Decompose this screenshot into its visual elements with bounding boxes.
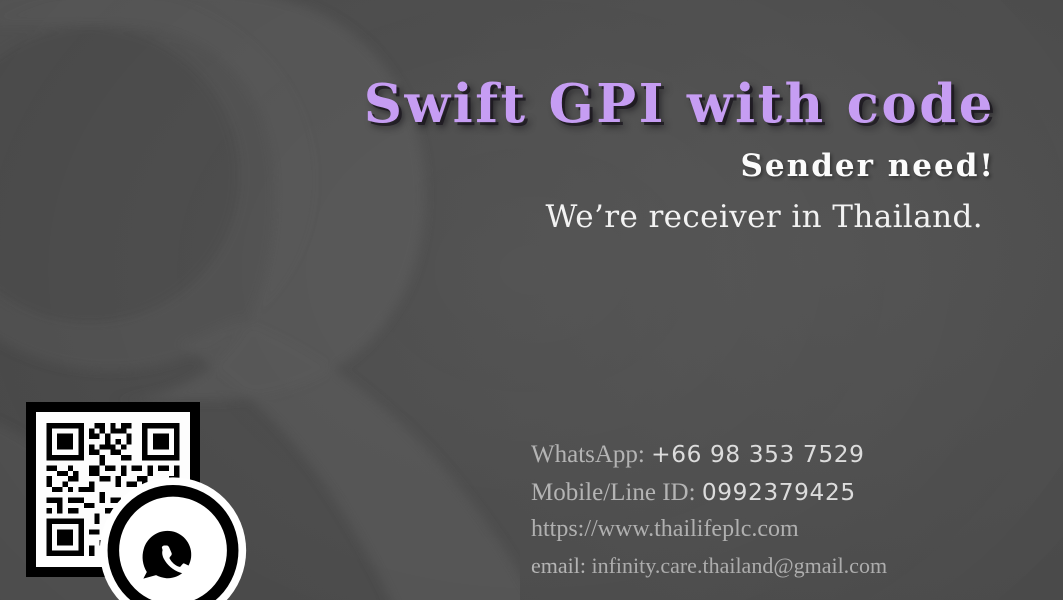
- contact-whatsapp-label: WhatsApp:: [531, 441, 645, 468]
- contact-email[interactable]: email: infinity.care.thailand@gmail.com: [531, 551, 991, 580]
- qr-code-image[interactable]: [36, 412, 190, 567]
- headline-subtitle: Sender need!: [0, 131, 995, 182]
- contact-email-label: email:: [531, 553, 586, 578]
- contact-details: WhatsApp: +66 98 353 7529 Mobile/Line ID…: [531, 438, 991, 585]
- headline-tagline: We’re receiver in Thailand.: [0, 182, 995, 233]
- contact-whatsapp-value: +66 98 353 7529: [651, 441, 864, 468]
- business-card-graphic: Swift GPI with code Sender need! We’re r…: [0, 0, 1063, 600]
- contact-website[interactable]: https://www.thailifeplc.com: [531, 514, 991, 546]
- whatsapp-icon: [96, 473, 250, 600]
- contact-email-value: infinity.care.thailand@gmail.com: [591, 553, 887, 578]
- contact-mobile: Mobile/Line ID: 0992379425: [531, 476, 991, 509]
- contact-mobile-label: Mobile/Line ID:: [531, 479, 696, 506]
- contact-whatsapp: WhatsApp: +66 98 353 7529: [531, 438, 991, 471]
- qr-code-frame[interactable]: [26, 402, 200, 577]
- page-title: Swift GPI with code: [0, 0, 995, 131]
- headline-block: Swift GPI with code Sender need! We’re r…: [0, 0, 1063, 280]
- contact-mobile-value: 0992379425: [702, 479, 856, 506]
